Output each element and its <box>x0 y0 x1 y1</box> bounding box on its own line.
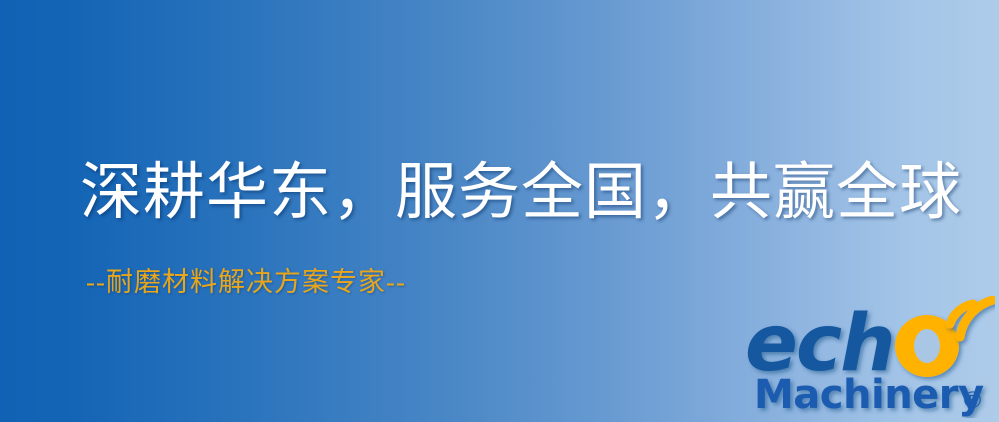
echo-machinery-logo[interactable]: ech Machinery ® <box>745 296 995 418</box>
logo-tagline: Machinery ® <box>754 372 984 418</box>
echo-signal-arcs-icon <box>950 300 993 337</box>
logo-graphic: ech Machinery ® <box>745 296 995 418</box>
banner-headline: 深耕华东，服务全国，共赢全球 <box>80 158 962 228</box>
hero-banner: 深耕华东，服务全国，共赢全球 --耐磨材料解决方案专家-- ech <box>0 0 999 422</box>
registered-trademark-icon: ® <box>961 388 984 414</box>
banner-subtitle: --耐磨材料解决方案专家-- <box>86 266 406 298</box>
logo-tagline-text: Machinery <box>754 372 984 418</box>
